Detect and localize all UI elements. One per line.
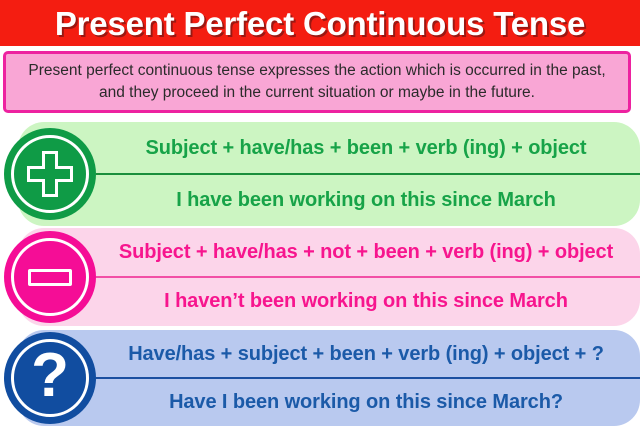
- rule-row-positive: Subject + have/has + been + verb (ing) +…: [0, 122, 640, 226]
- rule-row-question: Have/has + subject + been + verb (ing) +…: [0, 330, 640, 426]
- plus-glyph: [27, 151, 73, 197]
- negative-panel: Subject + have/has + not + been + verb (…: [18, 228, 640, 326]
- question-circle-ring: [11, 339, 89, 417]
- question-panel: Have/has + subject + been + verb (ing) +…: [18, 330, 640, 426]
- minus-circle-icon: [4, 231, 96, 323]
- positive-divider: [96, 173, 640, 175]
- question-formula: Have/has + subject + been + verb (ing) +…: [96, 330, 636, 378]
- negative-example: I haven’t been working on this since Mar…: [96, 277, 636, 326]
- title-banner: Present Perfect Continuous Tense: [0, 0, 640, 46]
- minus-circle-ring: [11, 238, 89, 316]
- rule-row-negative: Subject + have/has + not + been + verb (…: [0, 228, 640, 326]
- tense-infographic: Present Perfect Continuous Tense Present…: [0, 0, 640, 426]
- positive-example: I have been working on this since March: [96, 174, 636, 226]
- positive-panel: Subject + have/has + been + verb (ing) +…: [18, 122, 640, 226]
- question-mark-circle-icon: ?: [4, 332, 96, 424]
- positive-formula: Subject + have/has + been + verb (ing) +…: [96, 122, 636, 174]
- negative-formula: Subject + have/has + not + been + verb (…: [96, 228, 636, 277]
- page-title: Present Perfect Continuous Tense: [55, 7, 585, 40]
- description-box: Present perfect continuous tense express…: [3, 51, 631, 113]
- question-example: Have I been working on this since March?: [96, 378, 636, 426]
- negative-divider: [96, 276, 640, 278]
- description-text: Present perfect continuous tense express…: [16, 60, 618, 105]
- plus-circle-icon: [4, 128, 96, 220]
- question-divider: [96, 377, 640, 379]
